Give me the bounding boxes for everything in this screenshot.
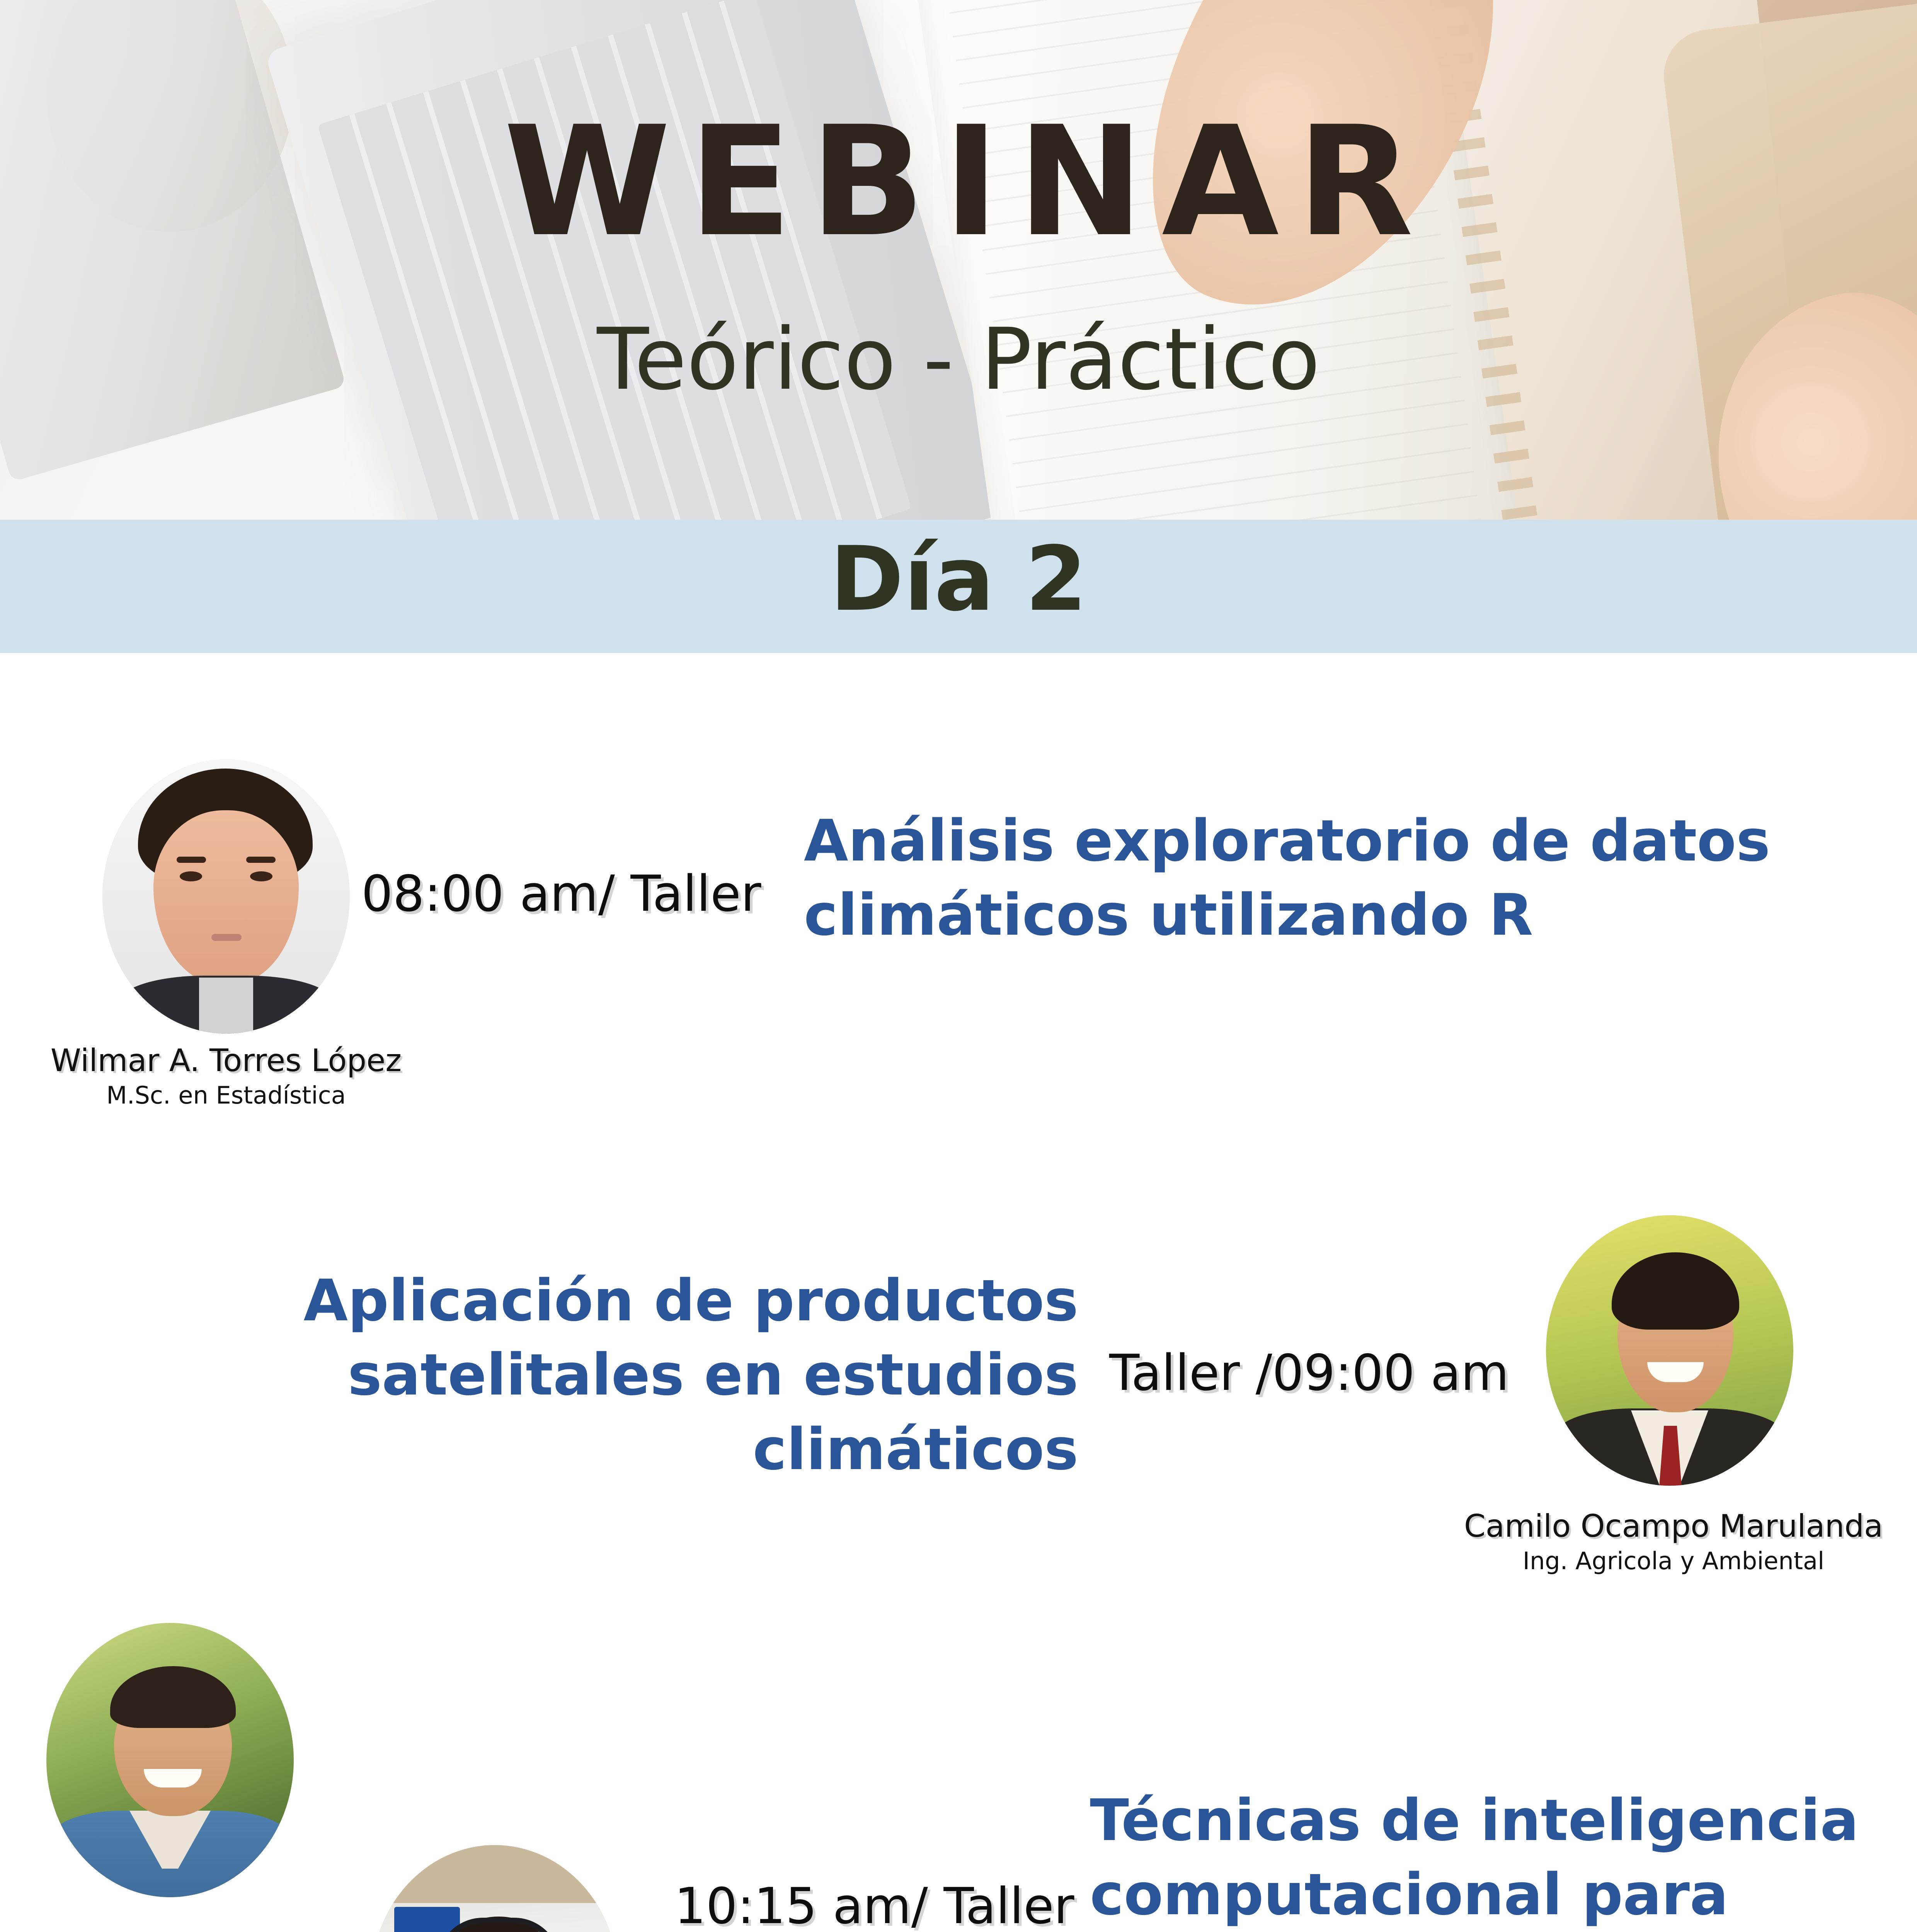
session-time-1: 08:00 am/ Taller (361, 869, 761, 919)
speaker-photo-camilo (1546, 1215, 1793, 1486)
photo-eye-right (250, 871, 272, 881)
session-title-2-line3: climáticos (232, 1412, 1078, 1486)
session-title-3: Técnicas de inteligencia computacional p… (1090, 1783, 1859, 1932)
session-time-3: 10:15 am/ Taller (674, 1882, 1074, 1931)
day-label: Día 2 (0, 535, 1917, 624)
photo-shirt-shape (199, 978, 253, 1034)
photo-face-shape (153, 810, 299, 984)
photo-eye-left (180, 871, 202, 881)
speaker-name-2: Camilo Ocampo Marulanda (1434, 1509, 1913, 1544)
session-title-1-line2: climáticos utilizando R (804, 878, 1809, 952)
photo-brow-right (246, 857, 276, 863)
speaker-photo-wilmar (102, 759, 350, 1034)
speaker-role-2: Ing. Agricola y Ambiental (1434, 1548, 1913, 1574)
session-title-2-line2: satelitales en estudios (232, 1338, 1078, 1412)
session-title-3-line2: computacional para (1090, 1857, 1859, 1932)
webinar-title: WEBINAR (0, 106, 1917, 258)
session-time-2: Taller /09:00 am (1109, 1349, 1509, 1398)
speaker-name-1: Wilmar A. Torres López (0, 1043, 452, 1078)
session-title-1-line1: Análisis exploratorio de datos (804, 804, 1809, 878)
webinar-subtitle: Teórico - Práctico (0, 317, 1917, 402)
photo-mouth-shape (211, 934, 242, 941)
photo-brow-left (177, 857, 206, 863)
speaker-photo-cristhian (371, 1845, 618, 1932)
photo-wall-sign-shape (394, 1907, 460, 1932)
session-title-2: Aplicación de productos satelitales en e… (232, 1264, 1078, 1486)
speaker-name-3: Wilfredo Alfonso Morales (0, 1928, 383, 1932)
session-title-2-line1: Aplicación de productos (232, 1264, 1078, 1338)
speaker-photo-wilfredo (46, 1623, 294, 1897)
speaker-role-1: M.Sc. en Estadística (0, 1082, 452, 1109)
session-title-1: Análisis exploratorio de datos climático… (804, 804, 1809, 952)
session-title-3-line1: Técnicas de inteligencia (1090, 1783, 1859, 1857)
